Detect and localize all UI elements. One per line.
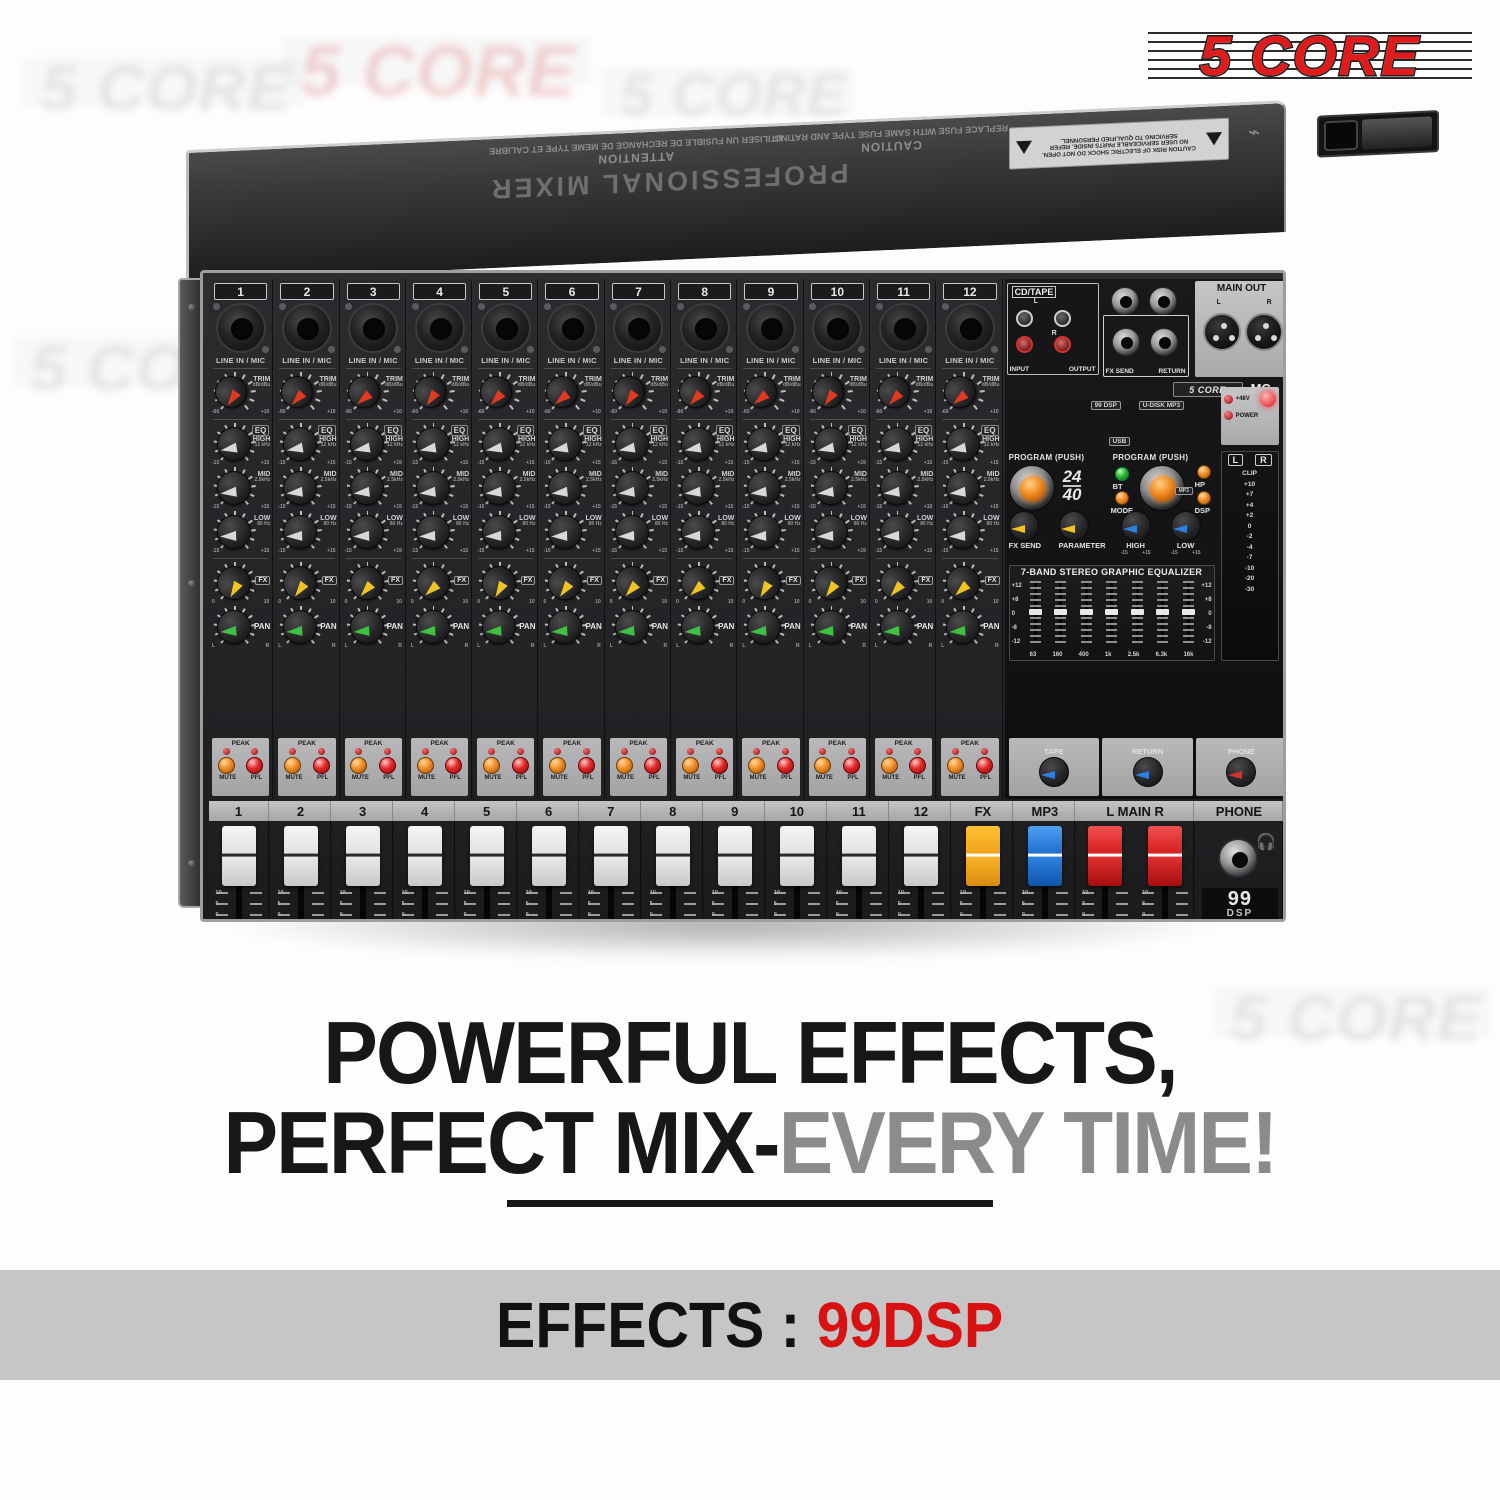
dsp-button[interactable] — [1197, 491, 1211, 505]
eq-band-label: HIGH12 kHz — [452, 436, 470, 449]
power-switch[interactable] — [1362, 116, 1432, 149]
watermark-staff-lines — [602, 70, 854, 120]
fx-knob-channel-6-pointer — [556, 581, 573, 600]
fx-max: 10 — [396, 599, 402, 605]
dsp-label: DSP — [1205, 908, 1275, 921]
eq-mid-knob-channel-7-wrap: MID2.5kHz-15+15 — [607, 467, 670, 511]
pan-knob-channel-4-wrap: PANLR — [408, 606, 471, 650]
jack-screw-icon — [677, 303, 684, 310]
trim-range: -60+10 — [543, 409, 600, 415]
trim-max: +10 — [592, 409, 600, 415]
pfl-button-channel-2[interactable] — [313, 757, 330, 774]
pfl-button-channel-4[interactable] — [445, 757, 462, 774]
eq-band-range: -15+15 — [875, 504, 932, 510]
trim-min: -60 — [278, 409, 285, 415]
pfl-button-channel-9[interactable] — [777, 757, 794, 774]
geq-scale-left--12: -12 — [1012, 639, 1021, 645]
pan-range: LR — [610, 643, 667, 649]
peak-led-icon — [583, 748, 590, 755]
geq-slider-160[interactable] — [1055, 581, 1066, 643]
trim-min: -60 — [345, 409, 352, 415]
fader-scale-value-5: 5 — [340, 901, 343, 907]
jack-screw-icon — [345, 303, 352, 310]
fader-scale-value-0: 0 — [774, 912, 777, 918]
fader-scale-ticks — [1142, 892, 1188, 922]
hp-button[interactable] — [1197, 465, 1211, 479]
peak-led-row — [477, 748, 534, 755]
trim-knob-channel-7-pointer — [621, 390, 638, 409]
combo-jack-channel-5[interactable] — [481, 303, 531, 353]
trim-knob-channel-12-wrap: TRIMdB/dBu-60+10 — [938, 372, 1001, 416]
eq-band-max: +15 — [526, 504, 534, 510]
eq-low-knob-channel-10-wrap: LOW80 Hz-15+15 — [806, 511, 869, 555]
pan-min: L — [477, 643, 480, 649]
pfl-button-channel-1[interactable] — [246, 757, 263, 774]
trim-knob-channel-4-wrap: TRIMdB/dBu-60+10 — [408, 372, 471, 416]
eq-band-label: LOW80 Hz — [917, 515, 933, 528]
eq-band-max: +15 — [791, 504, 799, 510]
pfl-label: PFL — [516, 775, 527, 781]
pan-knob-channel-5-pointer — [485, 626, 502, 637]
mute-label: MUTE — [617, 775, 634, 781]
eq-band-label: MID2.5kHz — [984, 471, 1000, 484]
eq-band-label: LOW80 Hz — [652, 515, 668, 528]
section-divider — [876, 368, 931, 369]
fx-min: 0 — [212, 599, 215, 605]
trim-knob-channel-11-pointer — [885, 390, 903, 409]
peak-led-icon — [318, 748, 325, 755]
eq-low-knob-channel-1-wrap: LOW80 Hz-15+15 — [209, 511, 272, 555]
geq-slider-cap — [1029, 609, 1042, 615]
rca-jack-2[interactable] — [1054, 310, 1071, 327]
section-divider — [346, 368, 401, 369]
eq-band-min: -15 — [809, 548, 816, 554]
eq-low-knob-channel-11-pointer — [883, 531, 899, 542]
watermark-staff-lines — [22, 60, 302, 110]
eq-section-tag: EQ — [451, 425, 469, 436]
section-divider — [743, 368, 798, 369]
pan-min: L — [610, 643, 613, 649]
mute-button-channel-10[interactable] — [814, 757, 831, 774]
peak-label: PEAK — [345, 740, 402, 747]
trim-range: -60+10 — [941, 409, 998, 415]
combo-jack-channel-2[interactable] — [282, 303, 332, 353]
pan-range: LR — [543, 643, 600, 649]
pfl-button-channel-11[interactable] — [909, 757, 926, 774]
fader-label-phone: PHONE — [1196, 801, 1283, 821]
channel-number-label: 11 — [877, 283, 930, 300]
high-min: -15 — [1121, 550, 1128, 556]
fx-knob-channel-11-wrap: FX010 — [872, 562, 935, 606]
pan-max: R — [332, 643, 336, 649]
jack-screw-icon — [858, 346, 865, 353]
trim-knob-channel-9-pointer — [751, 390, 770, 408]
eq-low-knob-channel-12-pointer — [949, 531, 965, 542]
pfl-button-channel-7[interactable] — [644, 757, 661, 774]
pfl-button-channel-10[interactable] — [843, 757, 860, 774]
eq-band-label: MID2.5kHz — [719, 471, 735, 484]
fx-knob-channel-4-wrap: FX010 — [408, 562, 471, 606]
channel-strip-5: 5LINE IN / MICTRIMdB/dBu-60+10EQHIGH12 k… — [474, 279, 538, 799]
geq-slider-400[interactable] — [1081, 581, 1092, 643]
phone-master-knob[interactable] — [1226, 757, 1256, 787]
button-labels: MUTEPFL — [875, 775, 932, 781]
eq-high-knob-channel-12-wrap: EQHIGH12 kHz-15+15 — [938, 423, 1001, 467]
eq-band-max: +15 — [592, 504, 600, 510]
fx-knob-channel-1-pointer — [226, 581, 243, 600]
fx-tag: FX — [255, 576, 270, 585]
eq-band-min: -15 — [345, 548, 352, 554]
mute-button-channel-12[interactable] — [947, 757, 964, 774]
fx-knob-channel-9-wrap: FX010 — [739, 562, 802, 606]
fader-cell-fx: 10505101520304060 — [953, 822, 1013, 922]
button-labels: MUTEPFL — [345, 775, 402, 781]
fader-handle-l-main-r-l[interactable] — [1088, 826, 1122, 886]
fx-tag: FX — [454, 576, 469, 585]
tape-knob-label: TAPE — [1044, 747, 1063, 756]
eq-band-freq: 12 kHz — [584, 443, 602, 448]
pan-max: R — [862, 643, 866, 649]
return-master-knob[interactable] — [1133, 757, 1163, 787]
eq-band-freq: 2.5kHz — [586, 478, 602, 483]
combo-jack-channel-6[interactable] — [547, 303, 597, 353]
geq-slider-6.3k[interactable] — [1157, 581, 1168, 643]
fx-knob-channel-9-pointer — [757, 581, 774, 600]
fader-scale-value-10: 10 — [650, 890, 656, 896]
mute-button-channel-5[interactable] — [483, 757, 500, 774]
fader-scale-ticks — [216, 892, 262, 922]
geq-freq-1k: 1k — [1105, 652, 1112, 658]
fader-handle-10[interactable] — [780, 826, 814, 886]
fader-cell-3: 10505101520304060 — [333, 822, 393, 922]
trim-label-sub: dB/dBu — [385, 383, 403, 388]
trim-max: +10 — [393, 409, 401, 415]
fader-label-8: 8 — [643, 801, 703, 821]
trim-label: TRIMdB/dBu — [385, 376, 403, 389]
rca-jack-1[interactable] — [1016, 310, 1033, 327]
line-in-mic-label: LINE IN / MIC — [938, 356, 1001, 365]
trim-label: TRIMdB/dBu — [783, 376, 801, 389]
fx-range: 010 — [676, 599, 733, 605]
peak-label: PEAK — [278, 740, 335, 747]
combo-jack-channel-9[interactable] — [746, 303, 796, 353]
trim-max: +10 — [857, 409, 865, 415]
eq-band-min: -15 — [278, 548, 285, 554]
mute-button-channel-6[interactable] — [549, 757, 566, 774]
fader-cell-9: 10505101520304060 — [705, 822, 765, 922]
fader-scale-ticks — [402, 892, 448, 922]
peak-label: PEAK — [742, 740, 799, 747]
eq-high-knob-channel-8-pointer — [684, 443, 701, 456]
phone-output-jack[interactable] — [1218, 838, 1258, 878]
trim-label: TRIMdB/dBu — [518, 376, 536, 389]
peak-led-row — [875, 748, 932, 755]
line-in-mic-label: LINE IN / MIC — [342, 356, 405, 365]
section-divider — [346, 419, 401, 420]
rca-jack-4[interactable] — [1054, 336, 1071, 353]
geq-scale-right--8: -8 — [1206, 625, 1211, 631]
mute-button-channel-9[interactable] — [748, 757, 765, 774]
combo-jack-channel-8[interactable] — [680, 303, 730, 353]
main-out-xlr-left[interactable] — [1203, 313, 1241, 351]
mute-label: MUTE — [683, 775, 700, 781]
mute-pfl-block-channel-9: PEAKMUTEPFL — [742, 738, 799, 796]
eq-section-tag: EQ — [318, 425, 336, 436]
mute-button-channel-11[interactable] — [881, 757, 898, 774]
fader-handle-fx[interactable] — [966, 826, 1000, 886]
high-master-knob[interactable] — [1121, 511, 1151, 541]
fader-cell-10: 10505101520304060 — [767, 822, 827, 922]
fx-knob-channel-12-wrap: FX010 — [938, 562, 1001, 606]
geq-slider-2.5k[interactable] — [1132, 581, 1143, 643]
eq-band-range: -15+15 — [477, 460, 534, 466]
pan-max: R — [796, 643, 800, 649]
fader-cell-4: 10505101520304060 — [395, 822, 455, 922]
combo-jack-channel-12[interactable] — [945, 303, 995, 353]
fader-handle-l-main-r-r[interactable] — [1148, 826, 1182, 886]
tape-master-knob[interactable] — [1039, 757, 1069, 787]
eq-low-knob-channel-7-wrap: LOW80 Hz-15+15 — [607, 511, 670, 555]
fader-scale-value-5: 5 — [278, 901, 281, 907]
vu-scale-+2: +2 — [1222, 511, 1278, 522]
vu-scale--30: -30 — [1222, 585, 1278, 596]
section-divider — [412, 368, 467, 369]
eq-band-range: -15+15 — [941, 504, 998, 510]
vu-scale-+10: +10 — [1222, 480, 1278, 491]
fader-handle-4[interactable] — [408, 826, 442, 886]
eq-band-max: +15 — [261, 460, 269, 466]
return-jack[interactable] — [1150, 328, 1178, 356]
fader-handle-mp3[interactable] — [1028, 826, 1062, 886]
mute-button-channel-4[interactable] — [417, 757, 434, 774]
trim-min: -60 — [610, 409, 617, 415]
channel-number-label: 9 — [744, 283, 797, 300]
fx-knob-channel-3-wrap: FX010 — [342, 562, 405, 606]
trim-label: TRIMdB/dBu — [253, 376, 271, 389]
return-label: RETURN — [1158, 368, 1185, 375]
pan-tag: PAN — [983, 622, 999, 631]
main-trs-right[interactable] — [1149, 287, 1177, 315]
pan-min: L — [676, 643, 679, 649]
mute-button-channel-2[interactable] — [284, 757, 301, 774]
eq-mid-knob-channel-9-pointer — [750, 487, 767, 499]
pan-knob-channel-9-pointer — [750, 626, 767, 637]
eq-band-max: +15 — [924, 504, 932, 510]
pfl-button-channel-5[interactable] — [512, 757, 529, 774]
parameter-knob[interactable] — [1059, 511, 1089, 541]
trim-knob-channel-3-wrap: TRIMdB/dBu-60+10 — [342, 372, 405, 416]
fx-knob-channel-5-pointer — [491, 581, 508, 600]
fx-tag: FX — [521, 576, 536, 585]
eq-band-min: -15 — [477, 504, 484, 510]
section-divider — [611, 368, 666, 369]
mode-button[interactable] — [1115, 491, 1129, 505]
eq-low-knob-channel-6-wrap: LOW80 Hz-15+15 — [540, 511, 603, 555]
combo-jack-channel-7[interactable] — [613, 303, 663, 353]
fader-scale-value-0: 0 — [1082, 912, 1085, 918]
bt-button[interactable] — [1115, 467, 1129, 481]
eq-band-max: +15 — [393, 504, 401, 510]
peak-label: PEAK — [941, 740, 998, 747]
fx-knob-channel-8-wrap: FX010 — [673, 562, 736, 606]
mute-button-channel-7[interactable] — [616, 757, 633, 774]
input-label: INPUT — [1010, 366, 1030, 373]
caution-plate: CAUTION RISK OF ELECTRIC SHOCK DO NOT OP… — [1009, 118, 1229, 170]
button-row — [278, 757, 335, 774]
warning-triangle-icon-2 — [1016, 141, 1032, 155]
pfl-button-channel-8[interactable] — [711, 757, 728, 774]
geq-slider-16k[interactable] — [1183, 581, 1194, 643]
mute-label: MUTE — [882, 775, 899, 781]
combo-jack-channel-3[interactable] — [348, 303, 398, 353]
trim-knob-channel-8-pointer — [686, 390, 704, 409]
section-divider — [942, 558, 997, 559]
jack-screw-icon — [394, 346, 401, 353]
peak-led-row — [411, 748, 468, 755]
trim-max: +10 — [990, 409, 998, 415]
fader-scale-ticks — [464, 892, 510, 922]
eq-band-min: -15 — [941, 460, 948, 466]
fader-handle-8[interactable] — [656, 826, 690, 886]
fader-scale-value-0: 0 — [588, 912, 591, 918]
fx-send-label: FX SEND — [1106, 368, 1134, 375]
channel-strip-12: 12LINE IN / MICTRIMdB/dBu-60+10EQHIGH12 … — [938, 279, 1002, 799]
trim-knob-channel-5-wrap: TRIMdB/dBu-60+10 — [474, 372, 537, 416]
pfl-label: PFL — [914, 775, 925, 781]
eq-low-knob-channel-8-wrap: LOW80 Hz-15+15 — [673, 511, 736, 555]
low-master-knob[interactable] — [1171, 511, 1201, 541]
fader-scale-ticks — [1082, 892, 1128, 922]
fader-handle-5[interactable] — [470, 826, 504, 886]
rca-jack-3[interactable] — [1016, 336, 1033, 353]
eq-band-range: -15+15 — [875, 548, 932, 554]
fader-handle-9[interactable] — [718, 826, 752, 886]
fader-handle-2[interactable] — [284, 826, 318, 886]
section-divider — [279, 419, 334, 420]
eq-mid-knob-channel-11-pointer — [883, 487, 900, 499]
eq-band-min: -15 — [212, 460, 219, 466]
fx-send-master-knob[interactable] — [1009, 511, 1039, 541]
eq-band-range: -15+15 — [411, 548, 468, 554]
combo-jack-channel-1[interactable] — [216, 303, 266, 353]
eq-band-label: HIGH12 kHz — [717, 436, 735, 449]
eq-band-min: -15 — [875, 504, 882, 510]
jack-screw-icon — [809, 303, 816, 310]
fader-handle-7[interactable] — [594, 826, 628, 886]
pfl-label: PFL — [980, 775, 991, 781]
program-encoder-1[interactable] — [1009, 465, 1055, 511]
fader-cell-11: 10505101520304060 — [829, 822, 889, 922]
eq-low-knob-channel-3-pointer — [353, 531, 369, 542]
eq-band-max: +15 — [261, 504, 269, 510]
channel-number-label: 3 — [347, 283, 400, 300]
pan-max: R — [398, 643, 402, 649]
mute-button-channel-3[interactable] — [350, 757, 367, 774]
fader-scale-ticks — [278, 892, 324, 922]
eq-band-min: -15 — [610, 460, 617, 466]
pfl-button-channel-3[interactable] — [379, 757, 396, 774]
fx-min: 0 — [875, 599, 878, 605]
vu-scale-CLIP: CLIP — [1222, 469, 1278, 480]
eq-band-label: MID2.5kHz — [321, 471, 337, 484]
eq-band-max: +15 — [460, 460, 468, 466]
jack-screw-icon — [991, 346, 998, 353]
eq-band-range: -15+15 — [345, 460, 402, 466]
mute-button-channel-1[interactable] — [218, 757, 235, 774]
trim-min: -60 — [543, 409, 550, 415]
eq-mid-knob-channel-4-pointer — [419, 487, 436, 499]
fx-min: 0 — [610, 599, 613, 605]
fader-handle-12[interactable] — [904, 826, 938, 886]
geq-slider-63[interactable] — [1030, 581, 1041, 643]
main-trs-left[interactable] — [1111, 287, 1139, 315]
combo-jack-channel-11[interactable] — [879, 303, 929, 353]
trim-max: +10 — [659, 409, 667, 415]
channel-number-label: 4 — [413, 283, 466, 300]
fader-scale-value-5: 5 — [836, 901, 839, 907]
fader-label-10: 10 — [767, 801, 827, 821]
eq-band-range: -15+15 — [941, 460, 998, 466]
eq-band-range: -15+15 — [278, 548, 335, 554]
program-block-2: PROGRAM (PUSH)BTMODEHPDSPMP3 — [1113, 453, 1217, 511]
jack-screw-icon — [942, 303, 949, 310]
eq-mid-knob-channel-6-wrap: MID2.5kHz-15+15 — [540, 467, 603, 511]
geq-scale-left-+12: +12 — [1012, 583, 1022, 589]
fader-handle-6[interactable] — [532, 826, 566, 886]
line-in-mic-label: LINE IN / MIC — [474, 356, 537, 365]
eq-band-label: HIGH12 kHz — [982, 436, 1000, 449]
fx-tag: FX — [985, 576, 1000, 585]
fx-knob-channel-7-pointer — [622, 581, 640, 600]
fader-handle-11[interactable] — [842, 826, 876, 886]
peak-led-row — [543, 748, 600, 755]
button-labels: MUTEPFL — [941, 775, 998, 781]
eq-mid-knob-channel-3-wrap: MID2.5kHz-15+15 — [342, 467, 405, 511]
trim-knob-channel-3-pointer — [353, 390, 372, 408]
combo-jack-channel-10[interactable] — [812, 303, 862, 353]
eq-band-label: HIGH12 kHz — [385, 436, 403, 449]
pfl-button-channel-6[interactable] — [578, 757, 595, 774]
fader-scale-value-5: 5 — [588, 901, 591, 907]
fx-min: 0 — [278, 599, 281, 605]
section-divider — [544, 558, 599, 559]
graphic-eq-title: 7-BAND STEREO GRAPHIC EQUALIZER — [1010, 567, 1214, 577]
master-dsp-panel: CD/TAPELRINPUTOUTPUTFX SENDRETURNMAIN OU… — [1005, 279, 1283, 799]
pfl-button-channel-12[interactable] — [976, 757, 993, 774]
fader-label-5: 5 — [457, 801, 517, 821]
mute-button-channel-8[interactable] — [682, 757, 699, 774]
eq-section-tag: EQ — [384, 425, 402, 436]
vu-right-label: R — [1255, 454, 1272, 466]
fx-send-jack[interactable] — [1112, 328, 1140, 356]
high-max: +15 — [1142, 550, 1150, 556]
combo-jack-channel-4[interactable] — [415, 303, 465, 353]
channel-strip-1: 1LINE IN / MICTRIMdB/dBu-60+10EQHIGH12 k… — [209, 279, 273, 799]
eq-band-freq: 12 kHz — [518, 443, 536, 448]
eq-band-label: LOW80 Hz — [718, 515, 734, 528]
pan-max: R — [597, 643, 601, 649]
fader-scale-ticks — [650, 892, 696, 922]
main-out-xlr-right[interactable] — [1245, 313, 1283, 351]
geq-slider-1k[interactable] — [1106, 581, 1117, 643]
fader-handle-1[interactable] — [222, 826, 256, 886]
pan-max: R — [929, 643, 933, 649]
eq-band-freq: 2.5kHz — [719, 478, 735, 483]
trim-knob-channel-6-pointer — [552, 390, 571, 408]
trim-label: TRIMdB/dBu — [451, 376, 469, 389]
fader-handle-3[interactable] — [346, 826, 380, 886]
eq-band-min: -15 — [875, 548, 882, 554]
